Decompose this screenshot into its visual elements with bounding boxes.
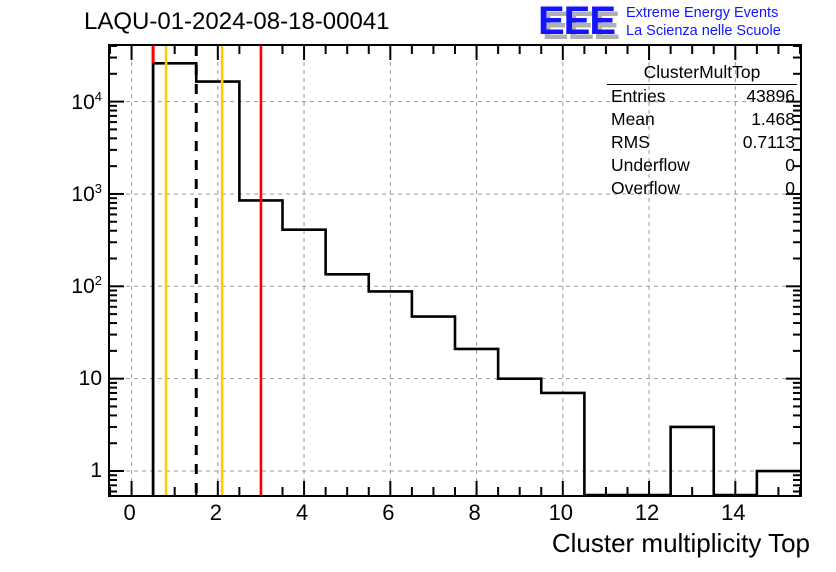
stats-row: RMS0.7113 [607,131,797,154]
stats-value: 43896 [746,86,795,107]
x-axis-title: Cluster multiplicity Top [552,528,810,559]
stats-row: Mean1.468 [607,108,797,131]
x-tick-label: 8 [468,500,480,526]
stats-value: 0.7113 [743,132,795,153]
stats-value: 0 [785,178,795,199]
eee-logo-line2: La Scienza nelle Scuole [626,22,781,40]
stats-box-title: ClusterMultTop [607,62,797,85]
page-title: LAQU-01-2024-08-18-00041 [84,8,390,36]
y-axis-labels: 110102103104 [0,44,102,497]
y-tick-label: 10 [79,367,102,391]
stats-key: Overflow [611,178,680,199]
stats-row: Entries43896 [607,85,797,108]
x-tick-label: 14 [721,500,745,526]
eee-logo-letters: EEE [538,2,615,40]
stats-key: Entries [611,86,665,107]
eee-logo: EEE Extreme Energy Events La Scienza nel… [538,2,834,44]
stats-value: 0 [785,155,795,176]
y-tick-label: 1 [90,459,102,483]
x-tick-label: 10 [549,500,573,526]
x-tick-label: 6 [382,500,394,526]
eee-logo-text: Extreme Energy Events La Scienza nelle S… [626,4,781,40]
stats-box: ClusterMultTop Entries43896Mean1.468RMS0… [607,62,797,200]
stats-value: 1.468 [751,109,795,130]
stats-box-rows: Entries43896Mean1.468RMS0.7113Underflow0… [607,85,797,200]
stats-key: RMS [611,132,650,153]
y-tick-label: 102 [71,273,102,299]
x-tick-label: 2 [210,500,222,526]
eee-logo-line1: Extreme Energy Events [626,4,781,22]
x-tick-label: 4 [296,500,308,526]
y-tick-label: 103 [71,181,102,207]
x-tick-label: 12 [635,500,659,526]
stats-row: Underflow0 [607,154,797,177]
stats-key: Mean [611,109,655,130]
y-tick-label: 104 [71,89,102,115]
stats-key: Underflow [611,155,690,176]
x-tick-label: 0 [123,500,135,526]
stats-row: Overflow0 [607,177,797,200]
